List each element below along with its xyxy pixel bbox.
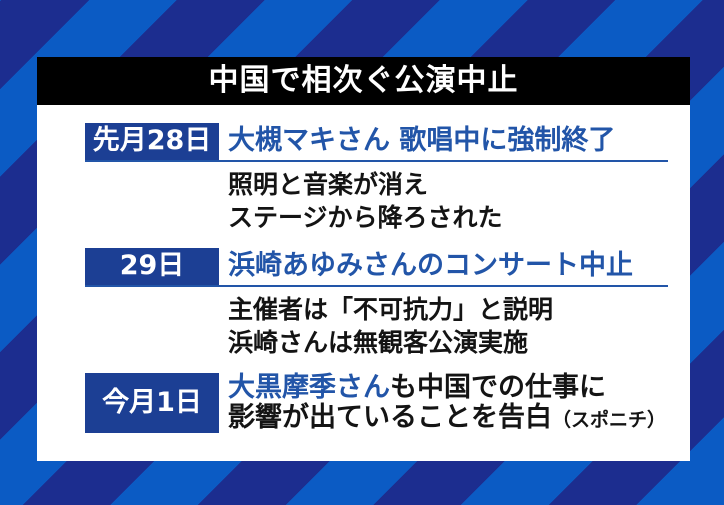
date-badge: 29日 <box>85 248 219 285</box>
date-badge: 先月28日 <box>85 123 219 160</box>
entry-headline-row: 今月1日 大黒摩季さんも中国での仕事に 影響が出ていることを告白（スポニチ） <box>85 373 668 433</box>
page-title: 中国で相次ぐ公演中止 <box>209 66 519 96</box>
entry-list: 先月28日 大槻マキさん 歌唱中に強制終了 照明と音楽が消え ステージから降ろさ… <box>37 105 690 461</box>
entry-body: 主催者は「不可抗力」と説明 浜崎さんは無観客公演実施 <box>85 287 668 359</box>
tv-news-graphic: 中国で相次ぐ公演中止 先月28日 大槻マキさん 歌唱中に強制終了 照明と音楽が消… <box>0 0 724 505</box>
entry-body-line: 主催者は「不可抗力」と説明 <box>228 293 668 326</box>
info-card: 中国で相次ぐ公演中止 先月28日 大槻マキさん 歌唱中に強制終了 照明と音楽が消… <box>37 57 690 461</box>
date-badge: 今月1日 <box>85 373 219 433</box>
entry-headline-line2: 影響が出ていることを告白 <box>228 402 552 433</box>
title-bar: 中国で相次ぐ公演中止 <box>37 57 690 105</box>
entry-body: 照明と音楽が消え ステージから降ろされた <box>85 162 668 234</box>
entry-body-line: 浜崎さんは無観客公演実施 <box>228 326 668 359</box>
entry-headline-subject: 大黒摩季さん <box>228 372 390 403</box>
entry-headline: 大槻マキさん 歌唱中に強制終了 <box>219 123 668 160</box>
list-item: 今月1日 大黒摩季さんも中国での仕事に 影響が出ていることを告白（スポニチ） <box>85 373 668 433</box>
entry-headline-row: 29日 浜崎あゆみさんのコンサート中止 <box>85 248 668 287</box>
entry-headline: 大黒摩季さんも中国での仕事に 影響が出ていることを告白（スポニチ） <box>219 373 668 433</box>
list-item: 29日 浜崎あゆみさんのコンサート中止 主催者は「不可抗力」と説明 浜崎さんは無… <box>85 248 668 359</box>
source-attribution: （スポニチ） <box>552 409 666 431</box>
entry-body-line: ステージから降ろされた <box>228 201 668 234</box>
entry-body-line: 照明と音楽が消え <box>228 168 668 201</box>
entry-headline: 浜崎あゆみさんのコンサート中止 <box>219 248 668 285</box>
entry-headline-row: 先月28日 大槻マキさん 歌唱中に強制終了 <box>85 123 668 162</box>
entry-headline-rest: も中国での仕事に <box>390 372 606 403</box>
list-item: 先月28日 大槻マキさん 歌唱中に強制終了 照明と音楽が消え ステージから降ろさ… <box>85 123 668 234</box>
